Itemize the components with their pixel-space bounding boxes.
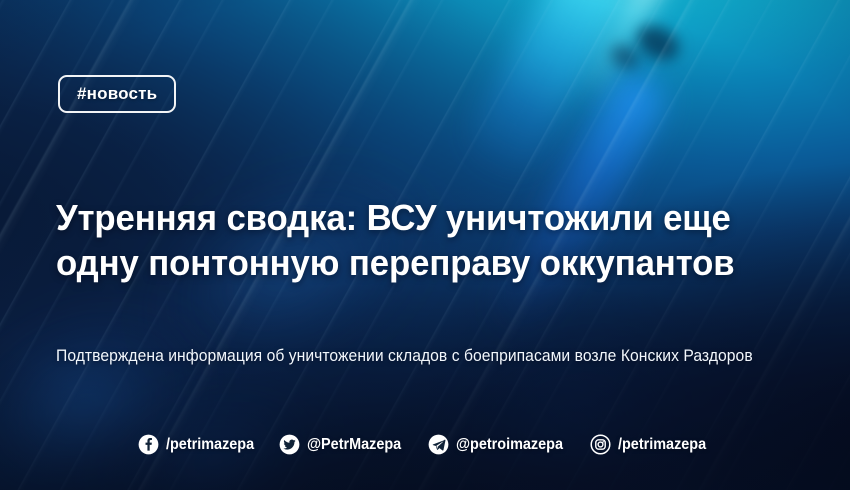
social-handle-instagram: /petrimazepa [618, 436, 706, 454]
telegram-icon [428, 434, 449, 455]
subtitle: Подтверждена информация об уничтожении с… [56, 345, 778, 367]
social-handle-twitter: @PetrMazepa [307, 436, 401, 454]
social-bar: /petrimazepa @PetrMazepa [0, 434, 850, 455]
social-link-facebook[interactable]: /petrimazepa [138, 434, 261, 455]
instagram-icon [590, 434, 611, 455]
tag-badge[interactable]: #новость [58, 75, 176, 113]
social-handle-facebook: /petrimazepa [166, 436, 254, 454]
social-link-instagram[interactable]: /petrimazepa [590, 434, 713, 455]
facebook-icon [138, 434, 159, 455]
news-card: #новость Утренняя сводка: ВСУ уничтожили… [0, 0, 850, 490]
social-handle-telegram: @petroimazepa [456, 436, 563, 454]
card-content: #новость Утренняя сводка: ВСУ уничтожили… [0, 0, 850, 490]
headline: Утренняя сводка: ВСУ уничтожили еще одну… [56, 196, 757, 285]
twitter-icon [279, 434, 300, 455]
social-link-twitter[interactable]: @PetrMazepa [279, 434, 408, 455]
social-link-telegram[interactable]: @petroimazepa [428, 434, 571, 455]
